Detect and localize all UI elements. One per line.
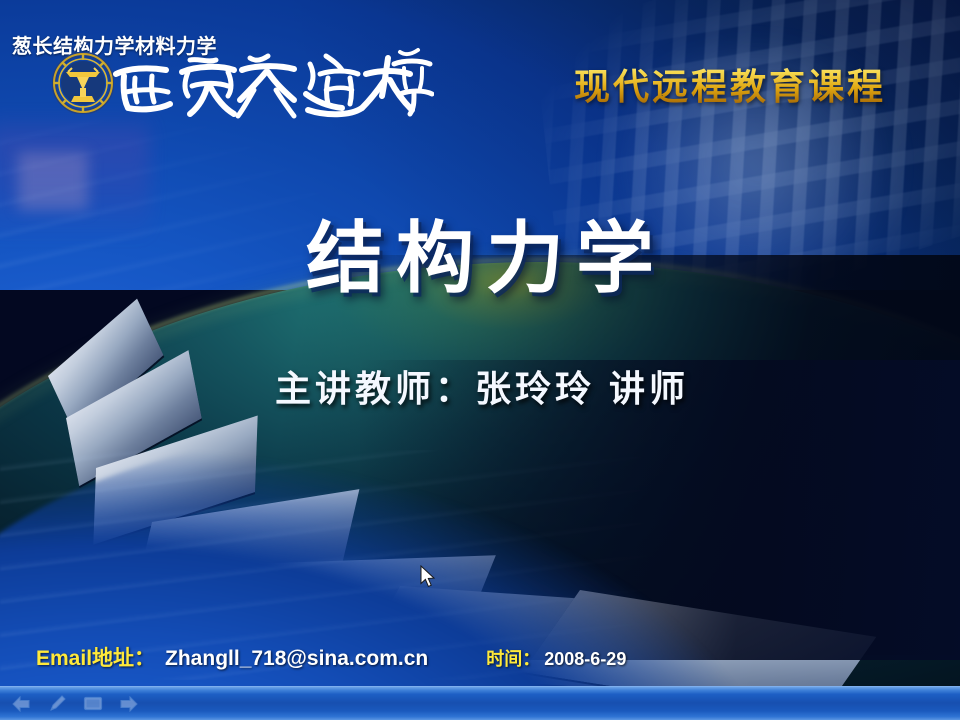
university-calligraphy: [104, 38, 434, 120]
email-value: Zhangll_718@sina.com.cn: [165, 647, 428, 671]
pen-tool-button[interactable]: [42, 693, 72, 715]
screen-icon: [83, 696, 103, 711]
email-label: Email地址：: [36, 642, 155, 672]
lecturer-subtitle: 主讲教师：张玲玲 讲师: [0, 360, 960, 412]
course-banner-title: 现代远程教育课程: [574, 58, 886, 110]
slide-menu-button[interactable]: [78, 693, 108, 715]
page-title: 结构力学: [0, 196, 960, 308]
date-label: 时间：: [486, 645, 540, 671]
pen-icon: [48, 695, 66, 713]
slideshow-toolbar: [0, 686, 960, 720]
right-arrow-icon: [119, 696, 139, 712]
date-value: 2008-6-29: [544, 649, 626, 670]
next-slide-button[interactable]: [114, 693, 144, 715]
presentation-slide: 葱长结构力学材料力学: [0, 0, 960, 720]
footer-contact-info: Email地址： Zhangll_718@sina.com.cn 时间： 200…: [36, 642, 626, 672]
previous-slide-button[interactable]: [6, 693, 36, 715]
left-arrow-icon: [11, 696, 31, 712]
